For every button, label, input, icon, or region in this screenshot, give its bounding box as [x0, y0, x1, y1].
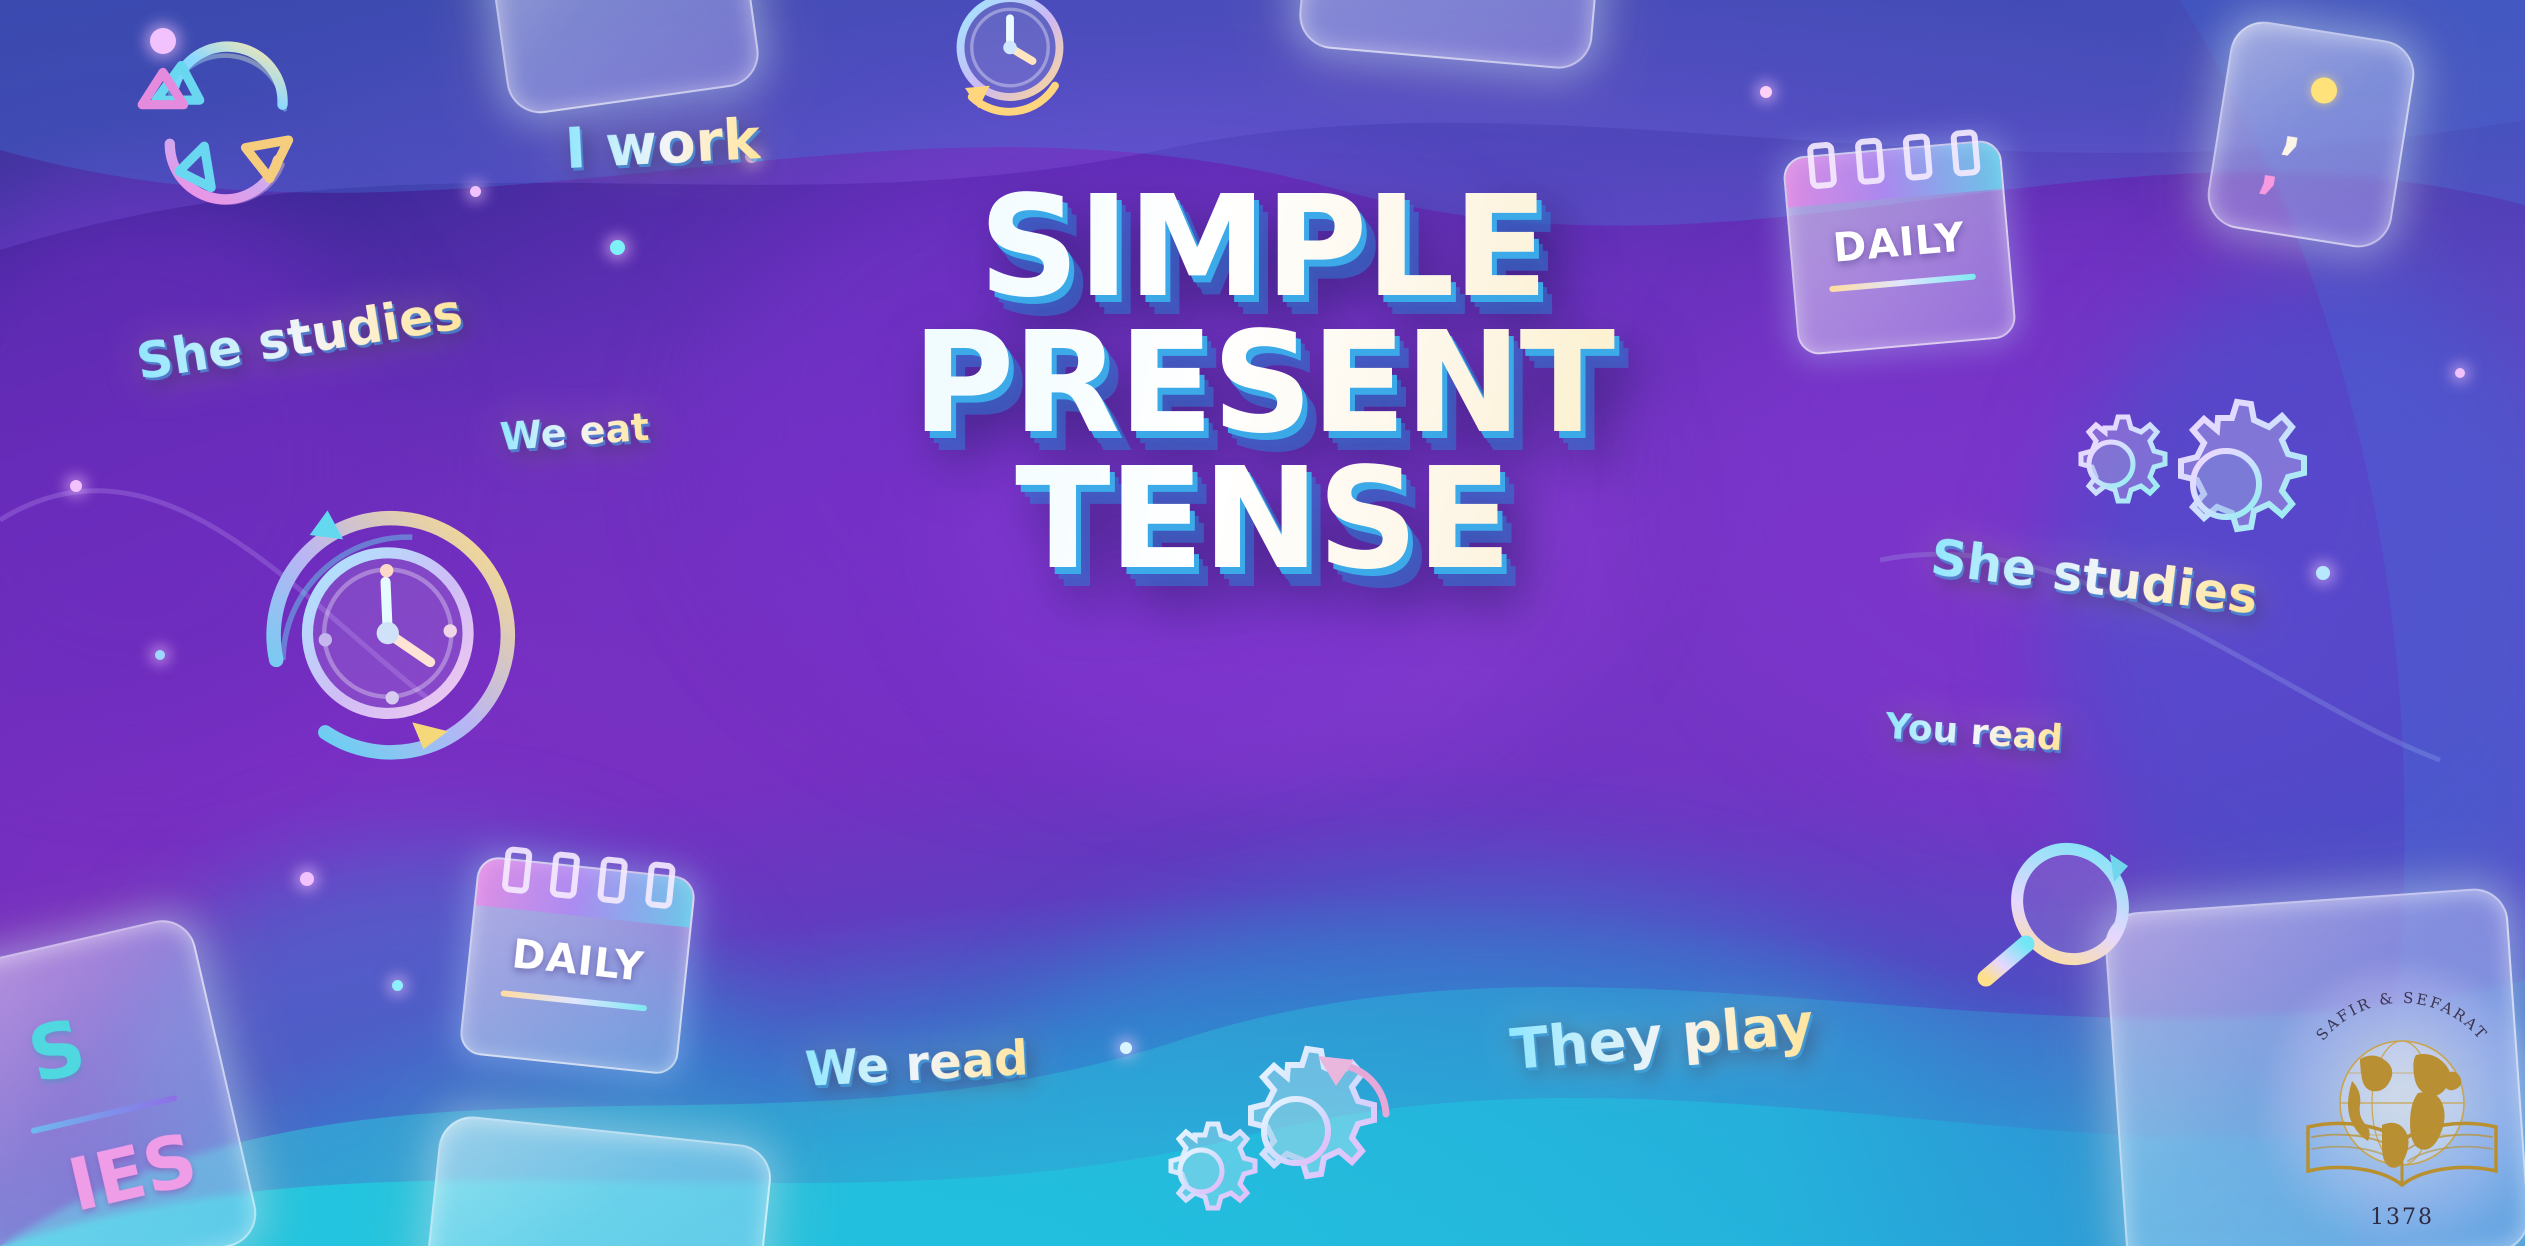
calendar-underline — [500, 990, 647, 1011]
calendar-ring — [1807, 141, 1838, 189]
suffix-ies-label: IES — [61, 1117, 204, 1228]
suffix-s-label: S — [20, 1001, 93, 1100]
calendar-ring — [549, 851, 581, 900]
calendar-label: DAILY — [469, 927, 688, 995]
calendar-ring — [1854, 137, 1885, 185]
calendar-ring — [645, 861, 677, 910]
calendar-ring — [1902, 133, 1933, 181]
calendar-ring — [1950, 129, 1981, 177]
flashcard-bottom-right[interactable] — [2103, 886, 2525, 1246]
poster-canvas: IES , , S IES DAILY DAILY — [0, 0, 2525, 1246]
calendar-ring — [501, 846, 533, 895]
dot-icon — [2309, 76, 2339, 106]
calendar-underline — [1829, 273, 1976, 292]
calendar-ring — [597, 856, 629, 905]
punctuation-card[interactable]: , , — [2203, 17, 2419, 253]
comma-icon-pink: , — [2258, 149, 2285, 187]
daily-calendar-top-right[interactable]: DAILY — [1782, 139, 2018, 356]
daily-calendar-bottom-left[interactable]: DAILY — [458, 855, 697, 1076]
calendar-label: DAILY — [1790, 211, 2008, 276]
